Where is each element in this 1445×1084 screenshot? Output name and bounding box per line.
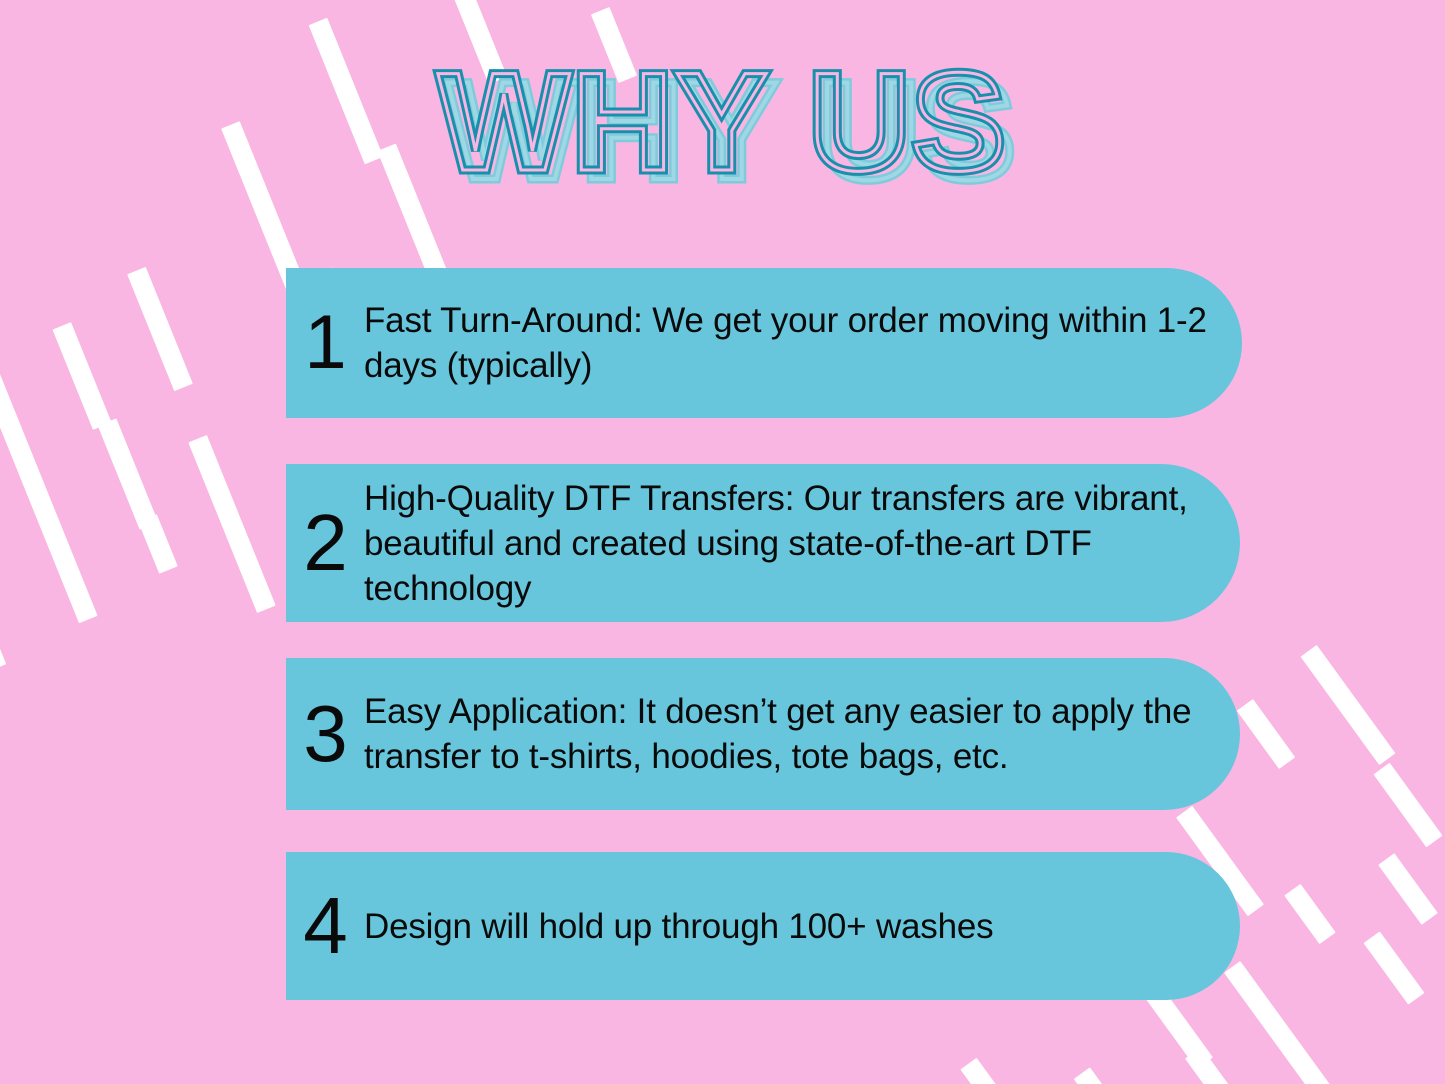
list-item: 3 Easy Application: It doesn’t get any e… [286,658,1240,810]
stripe-dash [960,1058,1023,1084]
stripe-dash [1378,853,1438,925]
stripe-dash [127,267,193,391]
item-text: Design will hold up through 100+ washes [364,904,1240,949]
stripe-dash [1373,763,1442,848]
stripe-dash [138,514,178,573]
stripe-dash [0,347,98,623]
item-text: Fast Turn-Around: We get your order movi… [364,298,1242,388]
stripe-dash [1074,1067,1147,1084]
page-title: WHY US WHY US WHY US WHY US [0,42,1445,202]
item-number: 3 [286,694,364,774]
title-knockout: WHY US [0,42,1445,202]
stripe-dash [188,435,275,613]
list-item: 2 High-Quality DTF Transfers: Our transf… [286,464,1240,622]
item-number: 2 [286,503,364,583]
item-number: 4 [286,886,364,966]
stripe-dash [1301,645,1396,765]
item-text: Easy Application: It doesn’t get any eas… [364,689,1240,779]
stripe-dash [1224,961,1332,1084]
stripe-dash [1185,1047,1267,1084]
stripe-dash [98,418,158,529]
list-item: 1 Fast Turn-Around: We get your order mo… [286,268,1242,418]
item-text: High-Quality DTF Transfers: Our transfer… [364,476,1240,611]
item-number: 1 [286,305,364,381]
stripe-dash [1237,699,1296,769]
stripe-dash [52,322,111,430]
stripe-dash [1284,884,1335,944]
stripe-dash [1364,931,1425,1004]
list-item: 4 Design will hold up through 100+ washe… [286,852,1240,1000]
poster-canvas: WHY US WHY US WHY US WHY US 1 Fast Turn-… [0,0,1445,1084]
stripe-dash [0,560,6,671]
